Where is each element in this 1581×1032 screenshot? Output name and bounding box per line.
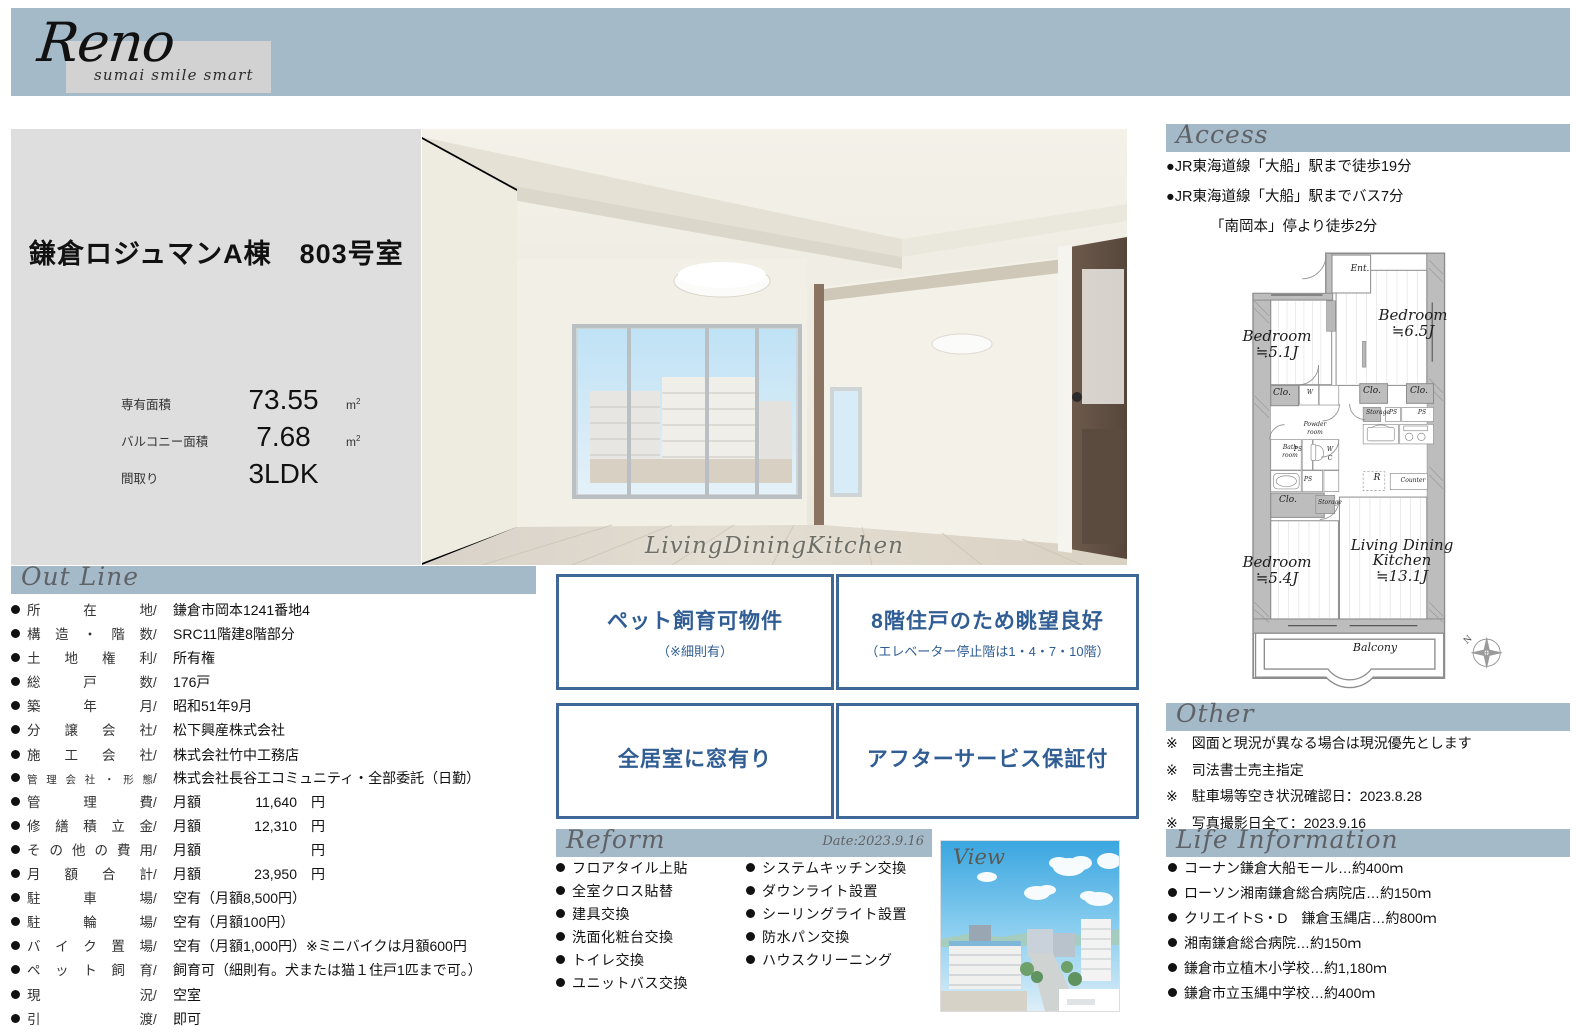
outline-row-separator: / (153, 795, 173, 810)
bullet-icon (1168, 863, 1177, 872)
reform-item-label: シーリングライト設置 (762, 904, 907, 924)
outline-row-value: 空有（月額100円） (173, 912, 294, 932)
feature-sub-pet: （※細則有） (657, 641, 733, 660)
bullet-icon (556, 978, 565, 987)
reform-header-label: Reform (566, 825, 666, 854)
floorplan-label-ps-4: PS (1290, 447, 1306, 453)
life-information-header-label: Life Information (1176, 825, 1399, 854)
bullet-icon (11, 990, 20, 999)
bullet-icon (11, 629, 20, 638)
bullet-icon (11, 701, 20, 710)
outline-row: 総戸数/176戸 (11, 671, 536, 692)
spec-label-balcony: バルコニー面積 (121, 431, 221, 450)
bullet-icon (746, 909, 755, 918)
other-row: ※ 図面と現況が異なる場合は現況優先とします (1166, 733, 1566, 753)
feature-box-windows: 全居室に窓有り (556, 703, 834, 819)
life-information-row: コーナン鎌倉大船モール…約400ｍ (1168, 858, 1568, 878)
bullet-icon (556, 932, 565, 941)
reform-item-label: システムキッチン交換 (762, 858, 907, 878)
outline-row-separator: / (153, 963, 173, 978)
outline-row-value: 鎌倉市岡本1241番地4 (173, 600, 310, 620)
reform-item: シーリングライト設置 (746, 904, 936, 924)
feature-sub-view: （エレベーター停止階は1・4・7・10階） (865, 641, 1109, 660)
outline-row-value: 月額11,640円 (173, 792, 325, 812)
outline-row: 土地権利/所有権 (11, 647, 536, 668)
property-spec-table: 専有面積 73.55 m2 バルコニー面積 7.68 m2 間取り 3LDK (121, 384, 411, 495)
outline-row-separator: / (153, 843, 173, 858)
floorplan-label-closet-4: Clo. (1263, 496, 1313, 505)
reform-item-label: ダウンライト設置 (762, 881, 878, 901)
outline-row-separator: / (153, 603, 173, 618)
spec-label-layout: 間取り (121, 468, 221, 487)
view-photo: View (940, 840, 1120, 1012)
reform-item: システムキッチン交換 (746, 858, 936, 878)
outline-row: 駐輪場/空有（月額100円） (11, 911, 536, 932)
outline-row-separator: / (153, 651, 173, 666)
floorplan-label-entrance: Ent. (1338, 265, 1382, 274)
floorplan-label-bath2: room (1268, 453, 1312, 459)
outline-row-value: 松下興産株式会社 (173, 720, 285, 740)
outline-row-label: バイク置場 (27, 935, 153, 955)
floorplan-label-refrigerator: R (1366, 474, 1388, 483)
spec-unit-area: m2 (346, 397, 360, 412)
floorplan-label-ldk-size: ≒13.1J (1332, 569, 1472, 585)
reform-list: フロアタイル上貼全室クロス貼替建具交換洗面化粧台交換トイレ交換ユニットバス交換 … (556, 858, 936, 996)
view-photo-label: View (953, 845, 1005, 869)
feature-title-windows: 全居室に窓有り (618, 743, 772, 773)
reform-item-label: 全室クロス貼替 (572, 881, 674, 901)
reform-item: ダウンライト設置 (746, 881, 936, 901)
outline-row-label: 施工会社 (27, 744, 153, 764)
bullet-icon (556, 955, 565, 964)
outline-row-value: 所有権 (173, 648, 215, 668)
outline-row-value: 空有（月額8,500円） (173, 888, 306, 908)
bullet-icon (1168, 963, 1177, 972)
brand-header-bar: Reno sumai smile smart (11, 8, 1570, 96)
outline-row-value: 月額23,950円 (173, 864, 325, 884)
bullet-icon (11, 1014, 20, 1023)
outline-row-label: 築年月 (27, 695, 153, 715)
outline-row-separator: / (153, 627, 173, 642)
reform-item: フロアタイル上貼 (556, 858, 746, 878)
life-information-label: 湘南鎌倉総合病院…約150ｍ (1184, 933, 1361, 953)
bullet-icon (556, 863, 565, 872)
outline-row-label: 分譲会社 (27, 719, 153, 739)
life-information-section-header: Life Information (1166, 829, 1570, 857)
spec-value-layout: 3LDK (221, 458, 346, 490)
bullet-icon (556, 886, 565, 895)
bullet-icon (11, 845, 20, 854)
outline-row-label: 現況 (27, 984, 153, 1004)
bullet-icon (1168, 988, 1177, 997)
bullet-icon (746, 863, 755, 872)
bullet-icon (746, 932, 755, 941)
outline-row-separator: / (153, 723, 173, 738)
bullet-icon (11, 605, 20, 614)
feature-box-view: 8階住戸のため眺望良好 （エレベーター停止階は1・4・7・10階） (836, 574, 1139, 690)
bullet-icon (1168, 913, 1177, 922)
outline-row-separator: / (153, 891, 173, 906)
floorplan-label-balcony: Balcony (1320, 642, 1430, 654)
reform-item: 建具交換 (556, 904, 746, 924)
outline-row: 修繕積立金/月額12,310円 (11, 815, 536, 836)
outline-row-value: 176戸 (173, 672, 210, 692)
floorplan-label-wc-2: C (1320, 456, 1340, 462)
bullet-icon (11, 917, 20, 926)
outline-row-value: SRC11階建8階部分 (173, 624, 295, 644)
reform-item-label: 洗面化粧台交換 (572, 927, 674, 947)
floorplan-label-wc-1: W (1320, 447, 1340, 453)
feature-title-pet: ペット飼育可物件 (607, 605, 783, 635)
outline-row-value: 昭和51年9月 (173, 696, 252, 716)
outline-row: 月額合計/月額23,950円 (11, 863, 536, 884)
outline-row-label: ペット飼育 (27, 959, 153, 979)
floorplan-label-closet-3: Clo. (1399, 387, 1439, 396)
property-summary-panel: 鎌倉ロジュマンA棟 803号室 専有面積 73.55 m2 バルコニー面積 7.… (11, 129, 421, 565)
other-section-header: Other (1166, 703, 1570, 731)
other-row: ※ 駐車場等空き状況確認日：2023.8.28 (1166, 786, 1566, 806)
reform-item: 洗面化粧台交換 (556, 927, 746, 947)
svg-text:N: N (1462, 634, 1475, 647)
outline-row-separator: / (153, 699, 173, 714)
floorplan-label-powder2: room (1287, 430, 1343, 436)
outline-row-label: 所在地 (27, 599, 153, 619)
reform-column-left: フロアタイル上貼全室クロス貼替建具交換洗面化粧台交換トイレ交換ユニットバス交換 (556, 858, 746, 996)
bullet-icon (11, 653, 20, 662)
reform-item-label: 建具交換 (572, 904, 630, 924)
outline-row-label: 構造・階数 (27, 623, 153, 643)
life-information-list: コーナン鎌倉大船モール…約400ｍローソン湘南鎌倉総合病院店…約150ｍクリエイ… (1168, 858, 1568, 1008)
life-information-label: クリエイトS・D 鎌倉玉縄店…約800ｍ (1184, 908, 1437, 928)
other-list: ※ 図面と現況が異なる場合は現況優先とします※ 司法書士売主指定※ 駐車場等空き… (1166, 733, 1566, 839)
life-information-label: 鎌倉市立玉縄中学校…約400ｍ (1184, 983, 1375, 1003)
bullet-icon (11, 773, 20, 782)
outline-row-separator: / (153, 915, 173, 930)
outline-row-value: 空有（月額1,000円）※ミニバイクは月額600円 (173, 936, 467, 956)
outline-row-separator: / (153, 675, 173, 690)
feature-box-pet: ペット飼育可物件 （※細則有） (556, 574, 834, 690)
floorplan-label-ps-1: PS (1382, 410, 1404, 416)
bullet-icon (11, 821, 20, 830)
life-information-row: 鎌倉市立玉縄中学校…約400ｍ (1168, 983, 1568, 1003)
outline-row-label: 駐輪場 (27, 911, 153, 931)
access-header-label: Access (1176, 120, 1269, 149)
outline-row: 築年月/昭和51年9月 (11, 695, 536, 716)
outline-row: ペット飼育/飼育可（細則有。犬または猫１住戸1匹まで可。） (11, 959, 536, 980)
reform-item-label: フロアタイル上貼 (572, 858, 688, 878)
outline-row-label: 月額合計 (27, 863, 153, 883)
outline-row: 駐車場/空有（月額8,500円） (11, 887, 536, 908)
outline-row-label: その他の費用 (27, 839, 153, 859)
room-photo-illustration (422, 129, 1127, 565)
floorplan-label-powder: Powder (1287, 422, 1343, 428)
outline-row: バイク置場/空有（月額1,000円）※ミニバイクは月額600円 (11, 935, 536, 956)
bullet-icon (11, 941, 20, 950)
feature-title-view: 8階住戸のため眺望良好 (871, 605, 1104, 635)
outline-row-separator: / (153, 1012, 173, 1027)
floorplan-label-washer: W (1295, 390, 1325, 396)
floorplan-label-bedroom2-size: ≒6.5J (1358, 324, 1468, 340)
outline-row-label: 修繕積立金 (27, 815, 153, 835)
floorplan-label-storage-2: Storage (1308, 500, 1352, 506)
outline-row: 現況/空室 (11, 984, 536, 1005)
outline-row-label: 総戸数 (27, 671, 153, 691)
other-row: ※ 司法書士売主指定 (1166, 760, 1566, 780)
outline-section-header: Out Line (11, 566, 536, 594)
bullet-icon (1168, 888, 1177, 897)
outline-row-label: 駐車場 (27, 887, 153, 907)
feature-title-warranty: アフターサービス保証付 (867, 743, 1109, 773)
floor-plan: N Ent. Bedroom ≒5.1J Bedroom ≒6.5J Bedro… (1180, 250, 1570, 690)
spec-row-layout: 間取り 3LDK (121, 458, 411, 490)
life-information-label: コーナン鎌倉大船モール…約400ｍ (1184, 858, 1403, 878)
reform-item-label: ユニットバス交換 (572, 973, 688, 993)
access-row: 「南岡本」停より徒歩2分 (1166, 215, 1566, 236)
floorplan-label-ps-2: PS (1408, 410, 1436, 416)
brand-tagline: sumai smile smart (94, 66, 254, 84)
floorplan-label-bedroom1-size: ≒5.1J (1222, 345, 1332, 361)
outline-row: 所在地/鎌倉市岡本1241番地4 (11, 599, 536, 620)
page-title: 鎌倉ロジュマンA棟 803号室 (29, 232, 409, 271)
reform-column-right: システムキッチン交換ダウンライト設置シーリングライト設置防水パン交換ハウスクリー… (746, 858, 936, 996)
feature-box-warranty: アフターサービス保証付 (836, 703, 1139, 819)
outline-row-label: 管理費 (27, 791, 153, 811)
access-row: ●JR東海道線「大船」駅までバス7分 (1166, 185, 1566, 206)
reform-item-label: ハウスクリーニング (762, 950, 893, 970)
reform-item: 全室クロス貼替 (556, 881, 746, 901)
outline-row-value: 月額12,310円 (173, 816, 325, 836)
brand-name: Reno (35, 16, 177, 70)
reform-item: 防水パン交換 (746, 927, 936, 947)
bullet-icon (11, 869, 20, 878)
access-section-header: Access (1166, 124, 1570, 152)
floorplan-label-counter: Counter (1388, 478, 1438, 484)
reform-item-label: トイレ交換 (572, 950, 645, 970)
bullet-icon (556, 909, 565, 918)
outline-header-label: Out Line (21, 562, 139, 591)
main-room-photo: LivingDiningKitchen (422, 129, 1127, 565)
bullet-icon (746, 886, 755, 895)
outline-row-value: 株式会社竹中工務店 (173, 745, 299, 765)
outline-row-separator: / (153, 988, 173, 1003)
reform-date: Date:2023.9.16 (822, 834, 924, 849)
spec-row-balcony: バルコニー面積 7.68 m2 (121, 421, 411, 453)
outline-row-separator: / (153, 867, 173, 882)
main-photo-caption: LivingDiningKitchen (645, 533, 904, 559)
life-information-row: クリエイトS・D 鎌倉玉縄店…約800ｍ (1168, 908, 1568, 928)
outline-row: 管理会社・形態/株式会社長谷工コミュニティ・全部委託（日勤） (11, 768, 536, 788)
floorplan-label-bedroom3-size: ≒5.4J (1222, 571, 1332, 587)
life-information-label: ローソン湘南鎌倉総合病院店…約150ｍ (1184, 883, 1431, 903)
outline-row-separator: / (153, 939, 173, 954)
outline-row-value: 月額円 (173, 840, 325, 860)
outline-row: 管理費/月額11,640円 (11, 791, 536, 812)
outline-row-label: 引渡 (27, 1008, 153, 1028)
spec-value-area: 73.55 (221, 384, 346, 416)
life-information-row: 湘南鎌倉総合病院…約150ｍ (1168, 933, 1568, 953)
floorplan-flyer-page: Reno sumai smile smart 鎌倉ロジュマンA棟 803号室 専… (0, 0, 1581, 1019)
reform-item: トイレ交換 (556, 950, 746, 970)
bullet-icon (746, 955, 755, 964)
reform-item: ハウスクリーニング (746, 950, 936, 970)
floorplan-label-ps-3: PS (1297, 477, 1319, 483)
spec-value-balcony: 7.68 (221, 421, 346, 453)
life-information-row: 鎌倉市立植木小学校…約1,180ｍ (1168, 958, 1568, 978)
life-information-label: 鎌倉市立植木小学校…約1,180ｍ (1184, 958, 1387, 978)
outline-row: 分譲会社/松下興産株式会社 (11, 719, 536, 740)
floorplan-label-closet-2: Clo. (1352, 387, 1392, 396)
access-row: ●JR東海道線「大船」駅まで徒歩19分 (1166, 155, 1566, 176)
bullet-icon (11, 725, 20, 734)
spec-row-area: 専有面積 73.55 m2 (121, 384, 411, 416)
bullet-icon (11, 893, 20, 902)
outline-row-value: 空室 (173, 985, 201, 1005)
outline-row-separator: / (153, 771, 173, 786)
other-header-label: Other (1176, 699, 1254, 728)
outline-row-value: 株式会社長谷工コミュニティ・全部委託（日勤） (173, 768, 480, 788)
outline-row: 構造・階数/SRC11階建8階部分 (11, 623, 536, 644)
outline-row-separator: / (153, 819, 173, 834)
spec-label-area: 専有面積 (121, 394, 221, 413)
outline-row: その他の費用/月額円 (11, 839, 536, 860)
bullet-icon (11, 750, 20, 759)
outline-row: 施工会社/株式会社竹中工務店 (11, 744, 536, 765)
reform-section-header: Reform Date:2023.9.16 (556, 829, 932, 857)
outline-row-value: 飼育可（細則有。犬または猫１住戸1匹まで可。） (173, 960, 482, 980)
reform-item: ユニットバス交換 (556, 973, 746, 993)
bullet-icon (1168, 938, 1177, 947)
outline-list: 所在地/鎌倉市岡本1241番地4構造・階数/SRC11階建8階部分土地権利/所有… (11, 599, 536, 1032)
bullet-icon (11, 677, 20, 686)
reform-item-label: 防水パン交換 (762, 927, 850, 947)
bullet-icon (11, 797, 20, 806)
outline-row-separator: / (153, 748, 173, 763)
outline-row: 引渡/即可 (11, 1008, 536, 1029)
bullet-icon (11, 965, 20, 974)
access-list: ●JR東海道線「大船」駅まで徒歩19分●JR東海道線「大船」駅までバス7分「南岡… (1166, 155, 1566, 245)
outline-row-label: 管理会社・形態 (27, 772, 153, 787)
life-information-row: ローソン湘南鎌倉総合病院店…約150ｍ (1168, 883, 1568, 903)
spec-unit-balcony: m2 (346, 434, 360, 449)
outline-row-label: 土地権利 (27, 647, 153, 667)
